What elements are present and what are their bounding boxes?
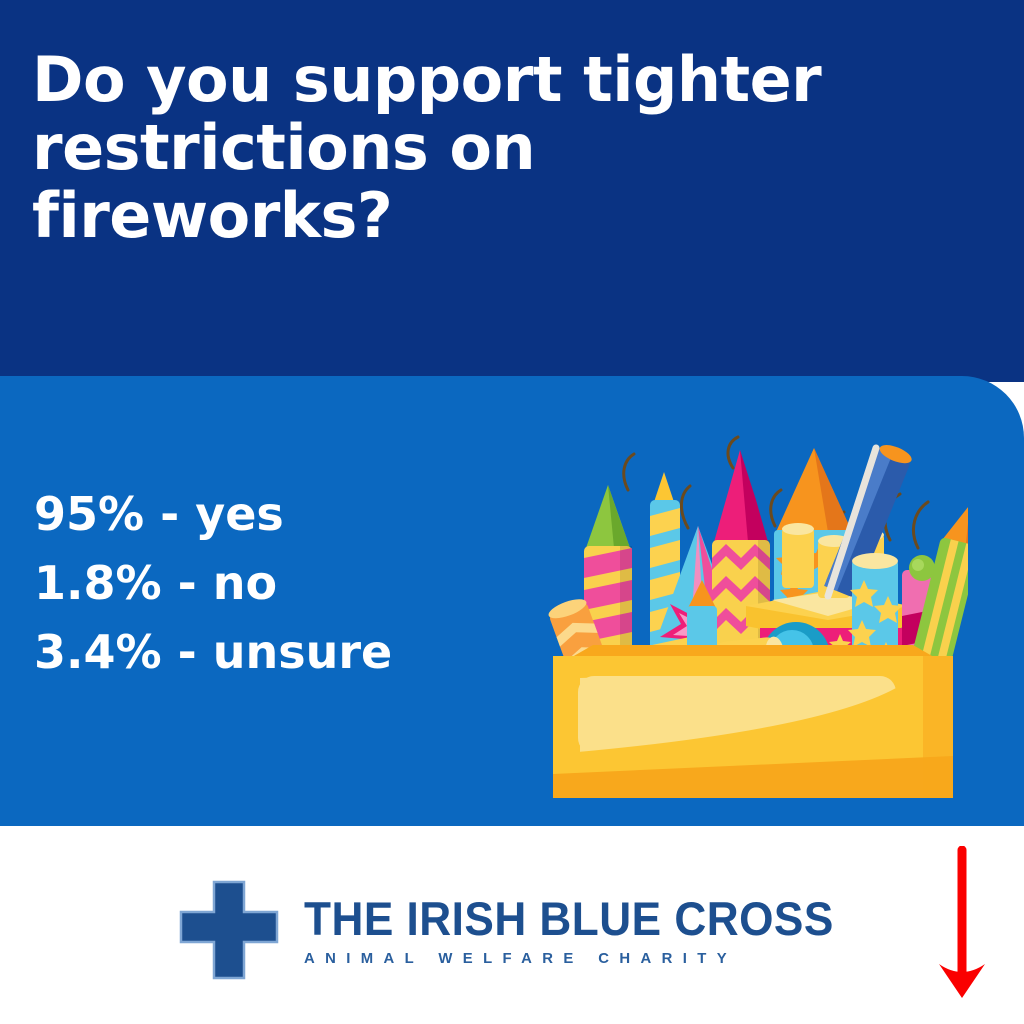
result-item-yes: 95% - yes	[34, 480, 392, 549]
result-item-unsure: 3.4% - unsure	[34, 618, 392, 687]
logo-text-block: THE IRISH BLUE CROSS ANIMAL WELFARE CHAR…	[304, 895, 868, 966]
page-title: Do you support tighter restrictions on f…	[32, 46, 902, 251]
fireworks-box-illustration	[528, 430, 978, 805]
logo-tagline: ANIMAL WELFARE CHARITY	[304, 944, 862, 966]
brand-logo: THE IRISH BLUE CROSS ANIMAL WELFARE CHAR…	[178, 880, 868, 980]
blue-cross-icon	[178, 880, 280, 980]
poll-results-list: 95% - yes 1.8% - no 3.4% - unsure	[34, 480, 392, 687]
headline-band: Do you support tighter restrictions on f…	[0, 0, 1024, 382]
result-item-no: 1.8% - no	[34, 549, 392, 618]
poll-result-poster: Do you support tighter restrictions on f…	[0, 0, 1024, 1024]
logo-wordmark: THE IRISH BLUE CROSS	[304, 895, 834, 942]
arrow-down-icon	[936, 846, 992, 1004]
